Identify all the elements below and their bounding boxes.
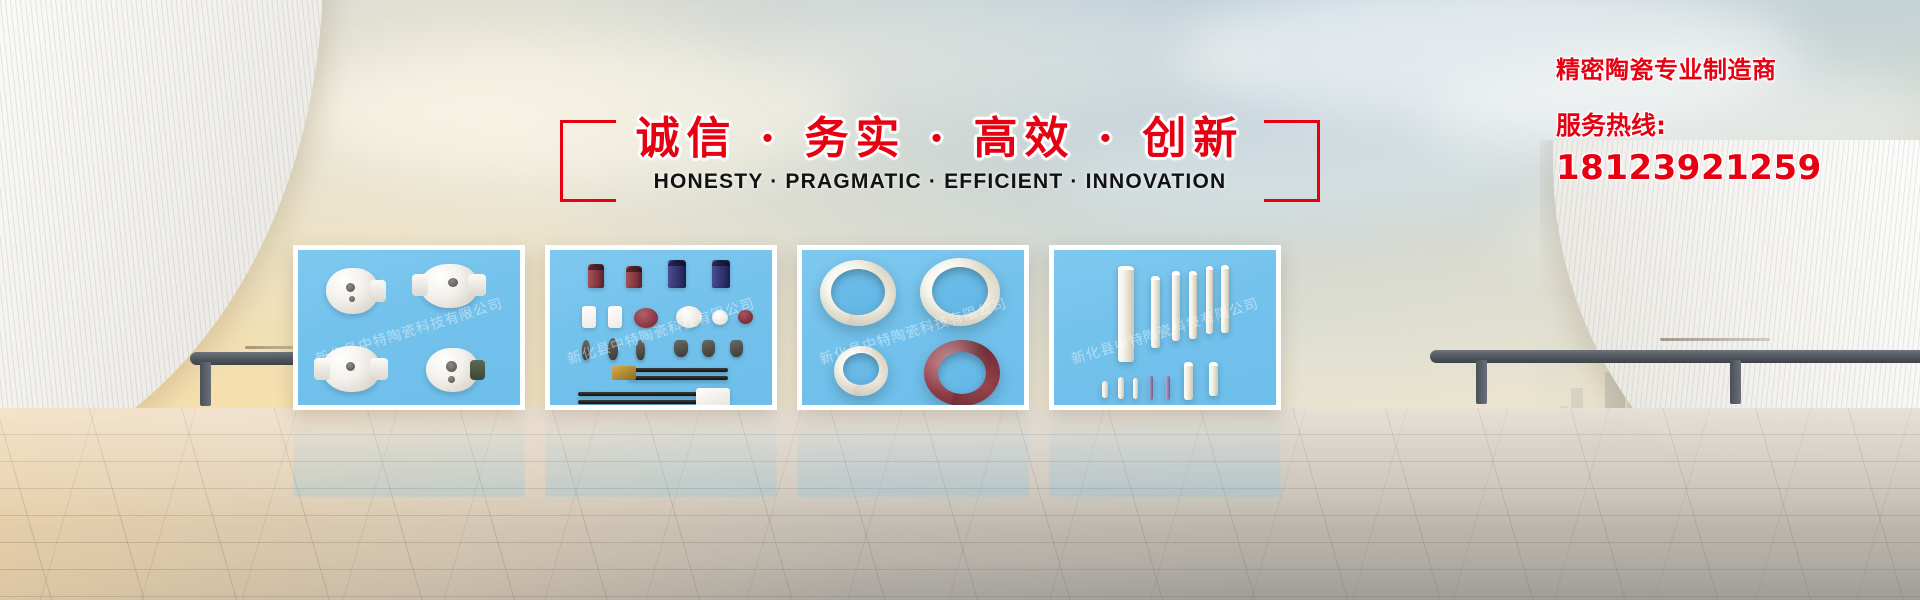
product-panel-inner: 新化县中特陶瓷科技有限公司 [802, 250, 1024, 405]
product-panel-rings[interactable]: 新化县中特陶瓷科技有限公司 [797, 245, 1029, 410]
holder-hole [448, 278, 458, 287]
lead-wire [628, 376, 728, 380]
watermark-text: 新化县中特陶瓷科技有限公司 [565, 293, 757, 369]
holder-tab [314, 358, 330, 380]
railing-post [200, 362, 211, 406]
ceramic-rod [1172, 271, 1180, 341]
railing-post [1476, 360, 1487, 404]
metal-clip [730, 340, 743, 357]
metal-clip [608, 338, 618, 360]
lead-wire [578, 392, 698, 396]
ceramic-ring-maroon [924, 340, 1000, 405]
product-panel-inner: 新化县中特陶瓷科技有限公司 [298, 250, 520, 405]
ceramic-rod-small [1184, 362, 1193, 400]
hotline-label: 服务热线: [1556, 106, 1886, 142]
metal-clip [636, 340, 645, 360]
ceramic-rod-small [1102, 381, 1108, 398]
metal-clip [674, 340, 688, 357]
ring-bore [938, 352, 986, 394]
metal-clip [702, 340, 715, 357]
terrace-floor [0, 408, 1920, 600]
holder-hole [346, 283, 355, 292]
ceramic-ring-large [920, 258, 1000, 326]
holder-tab [468, 274, 486, 296]
hotline-number[interactable]: 18123921259 [1556, 148, 1886, 188]
product-panel-inner: 新化县中特陶瓷科技有限公司 [1054, 250, 1276, 405]
ceramic-rod [1206, 266, 1213, 334]
metal-terminal [612, 366, 636, 380]
ceramic-rod-small [1209, 362, 1218, 396]
ceramic-tube [588, 264, 604, 288]
product-panel-inner: 新化县中特陶瓷科技有限公司 [550, 250, 772, 405]
terrace-railing-right [1430, 350, 1920, 412]
holder-hole [346, 362, 355, 371]
slogan-block: 诚信 · 务实 · 高效 · 创新 HONESTY · PRAGMATIC · … [560, 108, 1320, 218]
ceramic-plate [582, 306, 596, 328]
ceramic-ring [738, 310, 753, 324]
company-tagline: 精密陶瓷专业制造商 [1556, 50, 1886, 85]
ring-bore [932, 267, 988, 315]
ceramic-rod [1189, 271, 1197, 339]
promo-banner: 诚信 · 务实 · 高效 · 创新 HONESTY · PRAGMATIC · … [0, 0, 1920, 600]
ceramic-ring-large [820, 260, 896, 326]
lead-wire [628, 368, 728, 372]
railing-post [1730, 360, 1741, 404]
ceramic-plate [608, 306, 622, 328]
ceramic-ring [634, 308, 658, 328]
holder-hole [448, 376, 455, 383]
holder-hole [349, 296, 355, 302]
slogan-english: HONESTY · PRAGMATIC · EFFICIENT · INNOVA… [560, 170, 1320, 194]
railing-arm [1660, 338, 1770, 341]
ceramic-connector [696, 388, 730, 405]
railing-bar [1430, 350, 1920, 363]
ring-bore [843, 353, 879, 385]
product-panel-rods[interactable]: 新化县中特陶瓷科技有限公司 [1049, 245, 1281, 410]
ceramic-tube [626, 266, 642, 288]
holder-hole [446, 361, 457, 372]
holder-contact [470, 360, 485, 380]
ceramic-rod-small [1118, 377, 1124, 399]
ring-bore [831, 269, 885, 315]
product-panel-tubes-connectors[interactable]: 新化县中特陶瓷科技有限公司 [545, 245, 777, 410]
ceramic-rod [1221, 265, 1229, 333]
ceramic-lamp-holder [420, 264, 478, 308]
holder-tab [370, 358, 388, 380]
floor-sheen [0, 408, 1920, 528]
ceramic-lamp-holder [426, 348, 478, 392]
watermark-text: 新化县中特陶瓷科技有限公司 [1069, 293, 1261, 369]
metal-clip [582, 340, 590, 360]
ceramic-ring [712, 310, 728, 325]
ceramic-tube [712, 260, 730, 288]
ceramic-lamp-holder [326, 268, 378, 314]
slogan-chinese: 诚信 · 务实 · 高效 · 创新 [560, 102, 1320, 166]
ceramic-lamp-holder [322, 346, 380, 392]
product-panel-lamp-holders[interactable]: 新化县中特陶瓷科技有限公司 [293, 245, 525, 410]
holder-tab [412, 274, 428, 296]
holder-tab [370, 280, 386, 302]
ceramic-rod [1151, 276, 1160, 348]
ceramic-rod [1118, 266, 1134, 362]
contact-block: 精密陶瓷专业制造商 服务热线: 18123921259 [1556, 50, 1886, 188]
ceramic-ring [676, 306, 702, 328]
ceramic-rod-violet [1166, 376, 1170, 400]
lead-wire [578, 400, 698, 404]
ceramic-ring-small [834, 346, 888, 396]
ceramic-rod-violet [1149, 376, 1153, 400]
ceramic-rod-small [1133, 378, 1138, 399]
ceramic-tube [668, 260, 686, 288]
